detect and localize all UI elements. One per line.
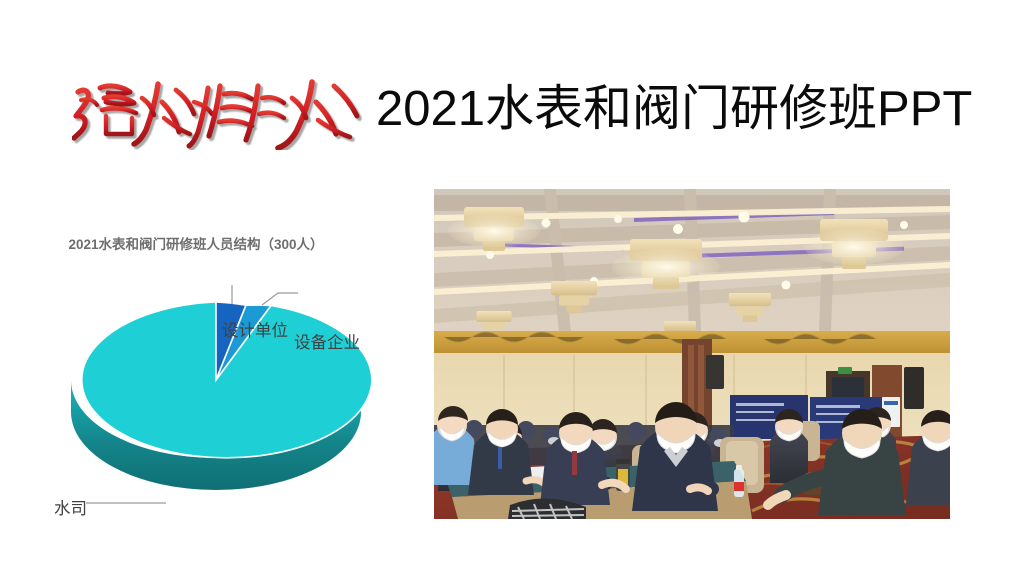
pie-chart: 设计单位 设备企业 水司 [26,255,396,515]
conference-hall-audience-photo [434,189,950,519]
pie-chart-panel: 2021水表和阀门研修班人员结构（300人） [26,215,396,515]
gei-shui-pai-shui-logo [72,72,362,150]
leader-line-equipment [262,293,298,305]
pie-label-design: 设计单位 [222,317,288,341]
presentation-slide: 2021水表和阀门研修班PPT 2021水表和阀门研修班人员结构（300人） [0,0,1024,576]
slide-header: 2021水表和阀门研修班PPT [0,72,1024,152]
pie-label-equipment: 设备企业 [294,329,360,353]
page-title: 2021水表和阀门研修班PPT [376,70,972,148]
pie-label-water: 水司 [54,495,87,519]
chart-title: 2021水表和阀门研修班人员结构（300人） [26,233,366,253]
